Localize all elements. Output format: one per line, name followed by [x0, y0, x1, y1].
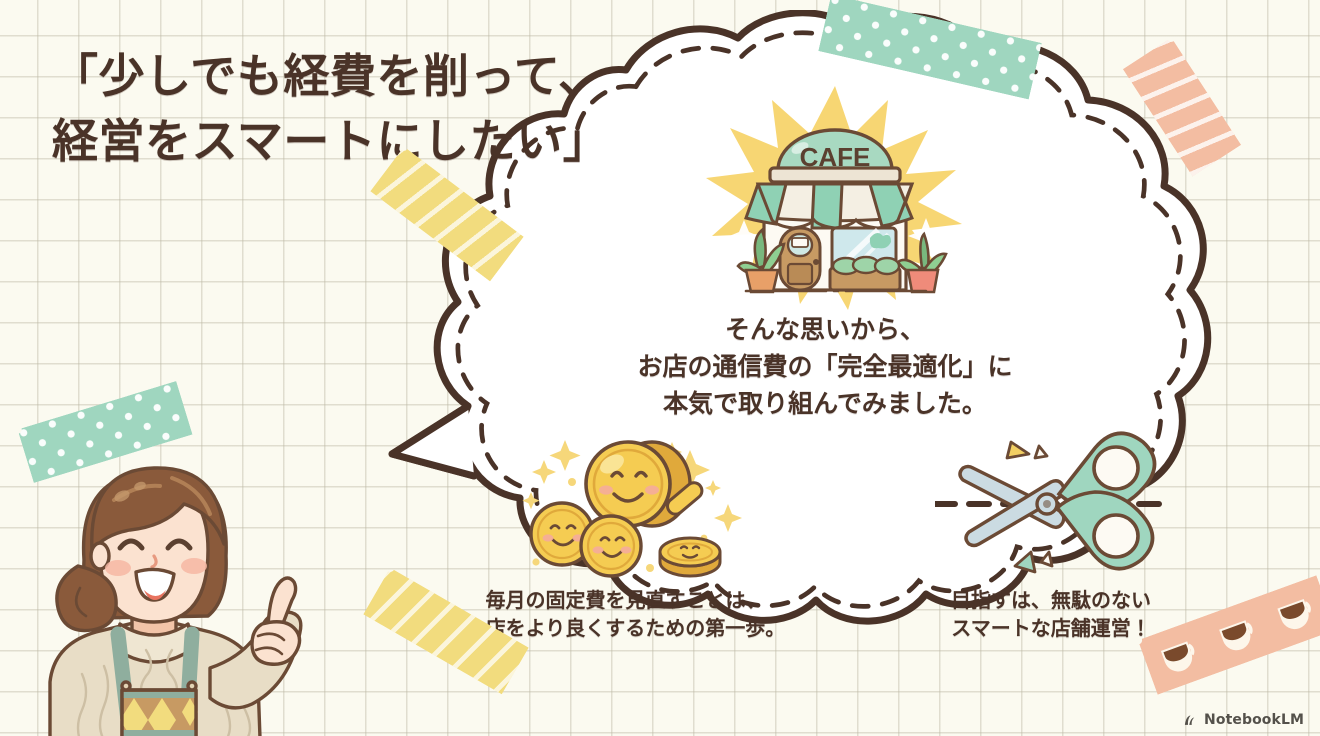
shop-owner-character [22, 438, 352, 736]
page-title: 「少しでも経費を削って、 経営をスマートにしたい」 [52, 44, 609, 175]
scissors-icon [935, 420, 1170, 582]
cafe-storefront-icon: CAFE [700, 78, 970, 313]
notebooklm-watermark: NotebookLM [1183, 712, 1304, 728]
notebooklm-label: NotebookLM [1204, 712, 1304, 728]
main-caption: そんな思いから、 お店の通信費の「完全最適化」に 本気で取り組んでみました。 [560, 312, 1090, 422]
slide-canvas: 「少しでも経費を削って、 経営をスマートにしたい」 [0, 0, 1320, 736]
smiling-coins-icon [500, 422, 750, 582]
notebooklm-logo-icon [1183, 713, 1198, 728]
flat-coin [660, 538, 720, 576]
